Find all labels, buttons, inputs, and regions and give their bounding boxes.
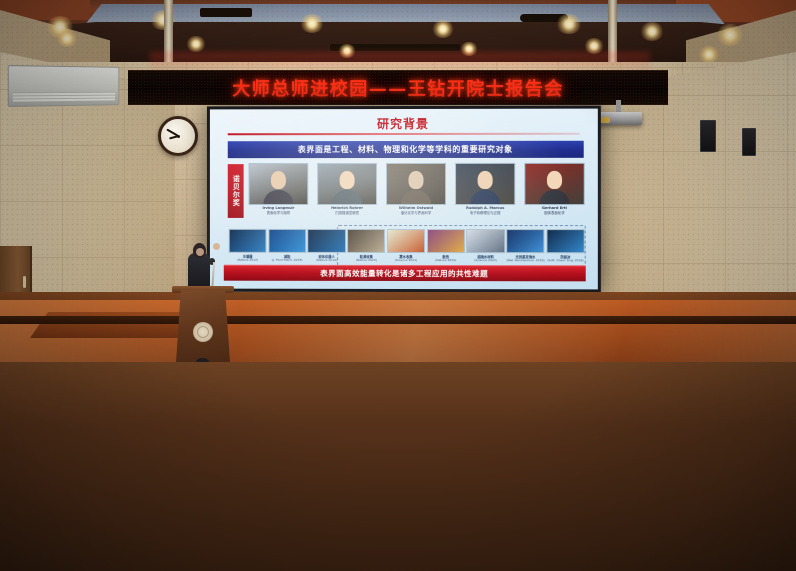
crest-inner-ring [197, 326, 209, 338]
laureate-field: 扫描隧道显微镜 [335, 211, 359, 215]
led-banner-text: 大师总师进校园——王钻开院士报告会 [128, 75, 668, 101]
application-thumbnail [308, 229, 346, 253]
application-thumbnail [387, 229, 425, 253]
application-thumbnail [506, 229, 544, 253]
application-cell: 光热蒸发海水(Nat. Nanotechnol. 2016) [507, 229, 543, 263]
ceiling-spotlight [698, 46, 720, 63]
nobel-prize-tag: 诺贝尔奖 [228, 164, 244, 218]
laureate-field: 电子转移理论与过程 [470, 211, 501, 215]
clock-center-pin [177, 135, 180, 138]
application-citation: (Nature 2012) [237, 259, 258, 263]
application-cell: 减阻(J. Fluid Mech. 2018) [269, 229, 305, 263]
wall-speaker-right-2 [742, 128, 756, 156]
application-thumbnail [466, 229, 504, 253]
wall-clock [158, 116, 198, 156]
application-cell: 能源收集(Nature 2020) [348, 229, 384, 263]
application-cell: 超疏水材料(Science 2023) [467, 229, 503, 263]
stage-lip-shadow [0, 316, 796, 324]
ceiling-spotlight [556, 14, 582, 34]
slide-title-rule [228, 133, 580, 136]
application-cell: 软体机器人(Nature 2019) [309, 229, 345, 263]
wall-speaker-right [700, 120, 716, 152]
ceiling-spotlight [432, 20, 454, 38]
laureate-field: 固体表面化学 [544, 211, 564, 215]
led-marquee-banner: 大师总师进校园——王钻开院士报告会 [128, 70, 668, 105]
laureate-cell: Rudolph A. Marcus电子转移理论与过程 [456, 163, 514, 223]
laureate-cell: Heinrich Rohrer扫描隧道显微镜 [318, 163, 376, 223]
air-conditioner-unit [8, 65, 119, 107]
application-citation: (Nature 2020) [356, 259, 377, 263]
ceiling-spotlight [56, 30, 78, 47]
ceiling-spotlight [300, 14, 324, 33]
application-citation: (Nature 2019) [316, 259, 337, 263]
application-thumbnail [268, 229, 306, 253]
application-citation: (Soft. Chem. Eng. 2016) [547, 259, 583, 263]
application-thumbnail [427, 229, 465, 253]
laureate-photo [249, 163, 309, 205]
speaker-hand [213, 243, 220, 250]
auditorium-photo: 大师总师进校园——王钻开院士报告会 研究背景 表界面是工程、材料、物理和化学等学… [0, 0, 796, 571]
application-citation: (Nat. Nanotechnol. 2016) [506, 259, 544, 263]
application-citation: (J. Fluid Mech. 2018) [272, 259, 303, 263]
laureate-portrait-row: Irving Langmuir表面化学与吸附Heinrich Rohrer扫描隧… [250, 163, 584, 223]
application-thumbnail [347, 229, 385, 253]
application-cell: 冷凝器(Nature 2012) [230, 229, 266, 263]
application-citation: (Nature 2022) [435, 259, 456, 263]
slide-blue-headline-text: 表界面是工程、材料、物理和化学等学科的重要研究对象 [298, 144, 513, 155]
laureate-photo [317, 163, 377, 205]
university-crest-emblem-icon [193, 322, 213, 342]
laureate-photo [386, 163, 446, 205]
ceiling-vent-left [200, 8, 252, 17]
slide-blue-headline-bar: 表界面是工程、材料、物理和化学等学科的重要研究对象 [228, 141, 584, 158]
application-cell: 防结冰(Soft. Chem. Eng. 2016) [547, 229, 583, 263]
ceiling-spotlight [716, 24, 744, 46]
laureate-cell: Gerhard Ertl固体表面化学 [525, 163, 584, 223]
laureate-photo [524, 163, 585, 205]
application-cell: 雾水收集(Science 2021) [388, 229, 424, 263]
slide-red-banner-text: 表界面高效能量转化是诸多工程应用的共性难题 [320, 267, 488, 278]
ceiling-spotlight [640, 22, 664, 41]
presentation-slide: 研究背景 表界面是工程、材料、物理和化学等学科的重要研究对象 诺贝尔奖 Irvi… [210, 109, 598, 290]
application-cell: 散热(Nature 2022) [428, 229, 464, 263]
application-citation: (Science 2023) [474, 259, 497, 263]
laureate-field: 表面化学与吸附 [267, 211, 291, 215]
speaker-face [196, 248, 204, 256]
ceiling-spotlight [186, 36, 206, 52]
application-thumbnail [546, 229, 584, 253]
slide-red-conclusion-banner: 表界面高效能量转化是诸多工程应用的共性难题 [224, 265, 586, 282]
application-thumbnail [229, 229, 267, 253]
application-citation: (Science 2021) [395, 259, 418, 263]
audience-seating-area [0, 362, 796, 571]
laureate-photo [455, 163, 515, 205]
door-handle-icon [23, 276, 26, 288]
laureate-field: 催化化学与界面科学 [401, 211, 432, 215]
ac-vent-louvers [13, 92, 115, 102]
projector-lens-icon [600, 117, 610, 123]
laureate-cell: Irving Langmuir表面化学与吸附 [250, 163, 308, 223]
laureate-cell: Wilhelm Ostwald催化化学与界面科学 [387, 163, 445, 223]
slide-title: 研究背景 [210, 115, 598, 133]
projection-screen: 研究背景 表界面是工程、材料、物理和化学等学科的重要研究对象 诺贝尔奖 Irvi… [207, 106, 601, 293]
